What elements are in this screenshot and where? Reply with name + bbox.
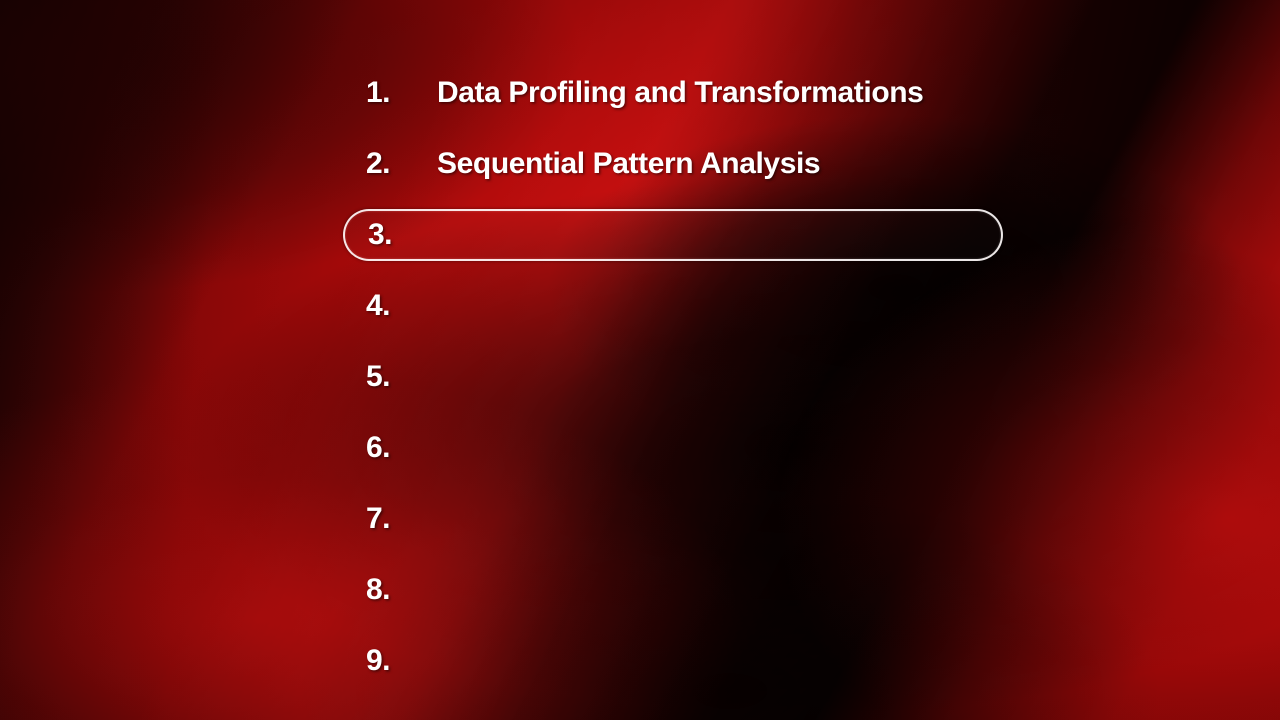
list-item[interactable]: 2.Sequential Pattern Analysis — [343, 138, 1003, 190]
list-item-number: 7. — [366, 504, 437, 534]
presentation-slide: Key Analytical Steps 1.Data Profiling an… — [0, 0, 1280, 720]
list-item-number: 6. — [366, 433, 437, 463]
list-item[interactable]: 7. — [343, 493, 1003, 545]
list-item[interactable]: 6. — [343, 422, 1003, 474]
slide-title-clipped-region: Key Analytical Steps — [0, 0, 1280, 14]
list-item-label: Sequential Pattern Analysis — [437, 149, 820, 179]
list-item-number: 5. — [366, 362, 437, 392]
list-item-number: 9. — [366, 646, 437, 676]
list-item[interactable]: 4. — [343, 280, 1003, 332]
list-item-number: 8. — [366, 575, 437, 605]
list-item-number: 1. — [366, 78, 437, 108]
list-item-number: 2. — [366, 149, 437, 179]
list-item-number: 4. — [366, 291, 437, 321]
list-item-number: 3. — [368, 220, 439, 250]
list-item[interactable]: 1.Data Profiling and Transformations — [343, 67, 1003, 119]
list-item-label: Data Profiling and Transformations — [437, 78, 923, 108]
list-item-selected[interactable]: 3. — [343, 209, 1003, 261]
list-item[interactable]: 9. — [343, 635, 1003, 687]
list-item[interactable]: 5. — [343, 351, 1003, 403]
numbered-list: 1.Data Profiling and Transformations2.Se… — [0, 0, 1280, 720]
list-item[interactable]: 8. — [343, 564, 1003, 616]
